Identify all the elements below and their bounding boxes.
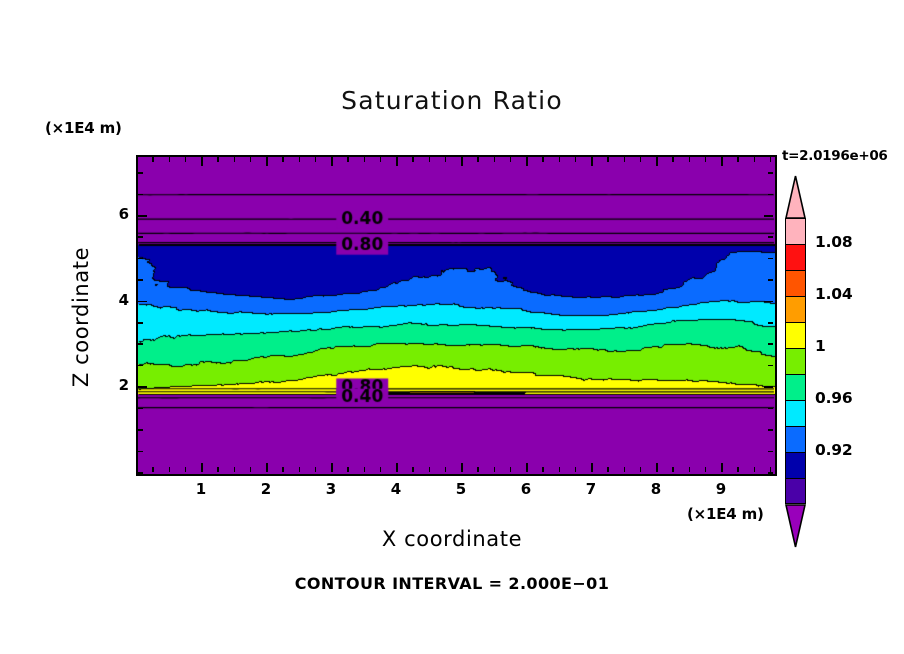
axis-tick [770, 157, 772, 162]
axis-tick [624, 157, 626, 162]
axis-tick [768, 172, 773, 174]
axis-tick [477, 467, 479, 472]
axis-tick [542, 157, 544, 162]
axis-tick [689, 157, 691, 162]
axis-tick [721, 157, 723, 166]
axis-tick [510, 467, 512, 472]
axis-tick [266, 463, 268, 472]
axis-tick [737, 157, 739, 162]
axis-tick [768, 258, 773, 260]
axis-tick [282, 157, 284, 162]
axis-tick [672, 467, 674, 472]
axis-tick [768, 472, 773, 474]
axis-tick [364, 467, 366, 472]
axis-tick [169, 157, 171, 162]
x-axis-title: X coordinate [0, 527, 904, 551]
axis-tick [754, 157, 756, 162]
axis-tick [138, 194, 143, 196]
axis-tick [445, 467, 447, 472]
y-tick-label: 4 [99, 291, 129, 309]
axis-tick [396, 463, 398, 472]
axis-tick [656, 463, 658, 472]
axis-tick [672, 157, 674, 162]
axis-tick [477, 157, 479, 162]
axis-tick [494, 467, 496, 472]
axis-tick [138, 365, 143, 367]
axis-tick [138, 301, 147, 303]
axis-tick [705, 467, 707, 472]
axis-tick [559, 467, 561, 472]
axis-tick [764, 386, 773, 388]
x-tick-label: 3 [311, 480, 351, 498]
axis-tick [138, 408, 143, 410]
colorbar-tick-label: 1.08 [815, 233, 852, 251]
axis-tick [768, 429, 773, 431]
axis-tick [138, 279, 143, 281]
colorbar-tick-label: 0.92 [815, 441, 852, 459]
colorbar[interactable] [785, 218, 806, 504]
y-axis-unit-label: (×1E4 m) [45, 119, 122, 137]
axis-tick [526, 463, 528, 472]
axis-tick [299, 157, 301, 162]
axis-tick [185, 467, 187, 472]
colorbar-swatch [785, 348, 806, 374]
colorbar-swatch [785, 296, 806, 322]
axis-tick [412, 157, 414, 162]
axis-tick [169, 467, 171, 472]
page-title: Saturation Ratio [0, 86, 904, 115]
x-tick-label: 1 [181, 480, 221, 498]
axis-tick [364, 157, 366, 162]
saturation-field-canvas [138, 157, 775, 474]
axis-tick [607, 157, 609, 162]
time-stamp-label: t=2.0196e+06 [782, 148, 888, 164]
axis-tick [461, 157, 463, 166]
axis-tick [138, 472, 143, 474]
axis-tick [380, 467, 382, 472]
axis-tick [768, 194, 773, 196]
axis-tick [764, 301, 773, 303]
colorbar-swatch [785, 374, 806, 400]
colorbar-tick-label: 1.04 [815, 285, 852, 303]
axis-tick [768, 322, 773, 324]
axis-tick [185, 157, 187, 162]
axis-tick [380, 157, 382, 162]
x-axis-unit-label: (×1E4 m) [687, 505, 764, 523]
axis-tick [347, 157, 349, 162]
axis-tick [234, 467, 236, 472]
axis-tick [412, 467, 414, 472]
y-axis-title: Z coordinate [69, 217, 93, 417]
axis-tick [315, 467, 317, 472]
axis-tick [201, 463, 203, 472]
axis-tick [266, 157, 268, 166]
contour-plot-figure: Saturation Ratio (×1E4 m) t=2.0196e+06 1… [0, 0, 904, 654]
y-tick-label: 2 [99, 376, 129, 394]
axis-tick [768, 365, 773, 367]
axis-tick [768, 236, 773, 238]
axis-tick [656, 157, 658, 166]
axis-tick [559, 157, 561, 162]
axis-tick [721, 463, 723, 472]
axis-tick [494, 157, 496, 162]
y-tick-label: 6 [99, 205, 129, 223]
axis-tick [542, 467, 544, 472]
axis-tick [138, 343, 143, 345]
x-tick-label: 7 [571, 480, 611, 498]
colorbar-swatch [785, 270, 806, 296]
x-tick-label: 8 [636, 480, 676, 498]
colorbar-swatch [785, 478, 806, 504]
axis-tick [768, 279, 773, 281]
axis-tick [429, 157, 431, 162]
colorbar-swatch [785, 244, 806, 270]
colorbar-swatch [785, 426, 806, 452]
axis-tick [315, 157, 317, 162]
axis-tick [461, 463, 463, 472]
colorbar-tick-label: 0.96 [815, 389, 852, 407]
colorbar-tick-label: 1 [815, 337, 826, 355]
axis-tick [138, 172, 143, 174]
axis-tick [138, 451, 143, 453]
axis-tick [737, 467, 739, 472]
axis-tick [689, 467, 691, 472]
plot-area[interactable] [136, 155, 777, 476]
axis-tick [768, 451, 773, 453]
axis-tick [138, 215, 147, 217]
axis-tick [624, 467, 626, 472]
axis-tick [299, 467, 301, 472]
colorbar-swatch [785, 218, 806, 244]
axis-tick [138, 236, 143, 238]
axis-tick [575, 467, 577, 472]
axis-tick [640, 467, 642, 472]
axis-tick [331, 157, 333, 166]
axis-tick [575, 157, 577, 162]
axis-tick [347, 467, 349, 472]
x-tick-label: 2 [246, 480, 286, 498]
colorbar-swatch [785, 400, 806, 426]
axis-tick [764, 215, 773, 217]
axis-tick [607, 467, 609, 472]
axis-tick [445, 157, 447, 162]
axis-tick [591, 157, 593, 166]
axis-tick [640, 157, 642, 162]
axis-tick [250, 157, 252, 162]
axis-tick [705, 157, 707, 162]
axis-tick [768, 343, 773, 345]
axis-tick [396, 157, 398, 166]
axis-tick [217, 467, 219, 472]
axis-tick [429, 467, 431, 472]
axis-tick [331, 463, 333, 472]
axis-tick [754, 467, 756, 472]
colorbar-swatch [785, 322, 806, 348]
axis-tick [282, 467, 284, 472]
axis-tick [138, 386, 147, 388]
contour-interval-note: CONTOUR INTERVAL = 2.000E−01 [0, 574, 904, 593]
colorbar-swatch [785, 452, 806, 478]
x-tick-label: 4 [376, 480, 416, 498]
x-tick-label: 6 [506, 480, 546, 498]
axis-tick [138, 258, 143, 260]
axis-tick [768, 408, 773, 410]
axis-tick [201, 157, 203, 166]
axis-tick [136, 157, 138, 162]
axis-tick [234, 157, 236, 162]
axis-tick [152, 157, 154, 162]
axis-tick [138, 429, 143, 431]
axis-tick [250, 467, 252, 472]
axis-tick [510, 157, 512, 162]
axis-tick [526, 157, 528, 166]
x-tick-label: 9 [701, 480, 741, 498]
axis-tick [217, 157, 219, 162]
axis-tick [138, 322, 143, 324]
axis-tick [591, 463, 593, 472]
axis-tick [152, 467, 154, 472]
x-tick-label: 5 [441, 480, 481, 498]
